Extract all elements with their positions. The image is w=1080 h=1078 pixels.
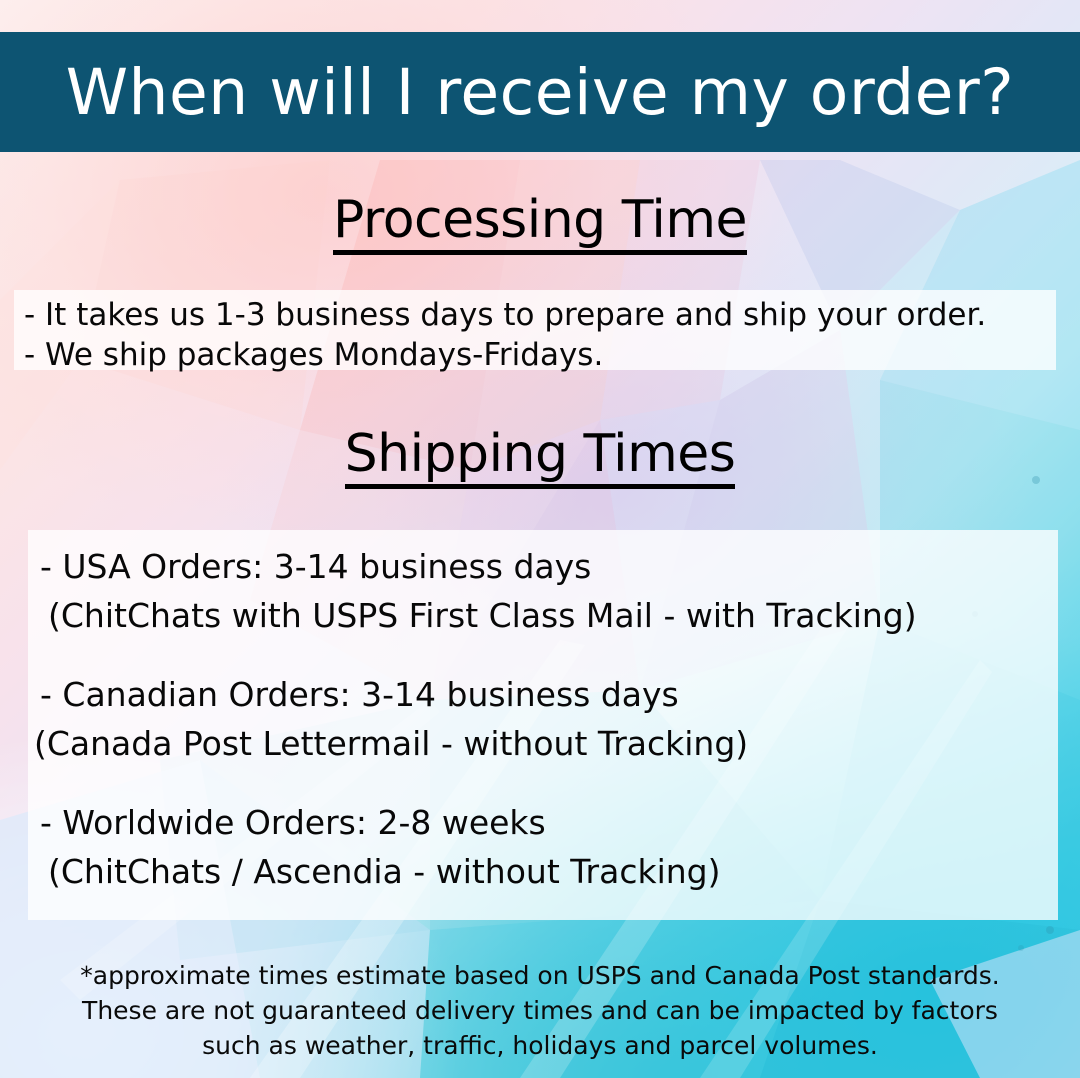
footnote-line-1: *approximate times estimate based on USP… — [0, 958, 1080, 993]
processing-time-line-1: - It takes us 1-3 business days to prepa… — [24, 295, 1056, 335]
shipping-group-worldwide: - Worldwide Orders: 2-8 weeks (ChitChats… — [28, 798, 1058, 896]
infographic-canvas: When will I receive my order? Processing… — [0, 0, 1080, 1078]
footnote-line-3: such as weather, traffic, holidays and p… — [0, 1028, 1080, 1063]
shipping-group-canada: - Canadian Orders: 3-14 business days (C… — [28, 670, 1058, 768]
shipping-canada-line-2: (Canada Post Lettermail - without Tracki… — [28, 719, 1058, 768]
section-heading-processing-time: Processing Time — [0, 194, 1080, 255]
processing-time-text-plate: - It takes us 1-3 business days to prepa… — [14, 290, 1056, 370]
shipping-worldwide-line-1: - Worldwide Orders: 2-8 weeks — [28, 798, 1058, 847]
processing-time-line-2: - We ship packages Mondays-Fridays. — [24, 335, 1056, 375]
footnote-disclaimer: *approximate times estimate based on USP… — [0, 958, 1080, 1063]
content-area: Processing Time - It takes us 1-3 busine… — [0, 0, 1080, 1078]
page-title: When will I receive my order? — [66, 61, 1014, 124]
shipping-canada-line-1: - Canadian Orders: 3-14 business days — [28, 670, 1058, 719]
shipping-group-usa: - USA Orders: 3-14 business days (ChitCh… — [28, 542, 1058, 640]
section-heading-shipping-times-label: Shipping Times — [345, 428, 736, 489]
section-heading-processing-time-label: Processing Time — [333, 194, 747, 255]
shipping-usa-line-1: - USA Orders: 3-14 business days — [28, 542, 1058, 591]
shipping-worldwide-line-2: (ChitChats / Ascendia - without Tracking… — [28, 847, 1058, 896]
header-banner: When will I receive my order? — [0, 32, 1080, 152]
shipping-times-text-plate: - USA Orders: 3-14 business days (ChitCh… — [28, 530, 1058, 920]
shipping-usa-line-2: (ChitChats with USPS First Class Mail - … — [28, 591, 1058, 640]
footnote-line-2: These are not guaranteed delivery times … — [0, 993, 1080, 1028]
section-heading-shipping-times: Shipping Times — [0, 428, 1080, 489]
